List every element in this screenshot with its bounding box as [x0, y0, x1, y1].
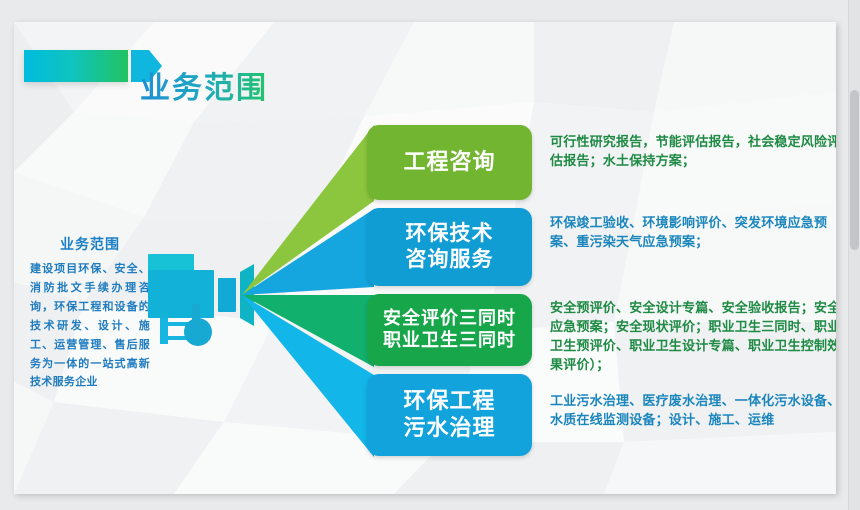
- page-title: 业务范围: [140, 63, 268, 107]
- header-ribbon-bar: [24, 50, 128, 82]
- sidebar-text-block: 业务范围 建设项目环保、安全、消防批文手续办理咨询，环保工程和设备的技术研发、设…: [30, 234, 150, 392]
- screenshot-viewport: 业务范围 业务范围 建设项目环保、安全、消防批文手续办理咨询，环保工程和设备的技…: [0, 0, 860, 510]
- description-item-1: 环保竣工验收、环境影响评价、突发环境应急预案、重污染天气应急预案；: [550, 214, 836, 252]
- banner-item-1[interactable]: 环保技术 咨询服务: [367, 208, 532, 286]
- scrollbar-thumb[interactable]: [850, 90, 859, 250]
- banner-item-0[interactable]: 工程咨询: [367, 125, 532, 200]
- slide-canvas: 业务范围 业务范围 建设项目环保、安全、消防批文手续办理咨询，环保工程和设备的技…: [14, 22, 836, 494]
- sidebar-body-text: 建设项目环保、安全、消防批文手续办理咨询，环保工程和设备的技术研发、设计、施工、…: [30, 260, 150, 392]
- banner-item-2[interactable]: 安全评价三同时 职业卫生三同时: [367, 294, 532, 366]
- description-item-3: 工业污水治理、医疗废水治理、一体化污水设备、水质在线监测设备；设计、施工、运维: [550, 392, 836, 430]
- sidebar-heading: 业务范围: [30, 234, 150, 254]
- banner-item-3[interactable]: 环保工程 污水治理: [367, 374, 532, 456]
- description-item-0: 可行性研究报告，节能评估报告，社会稳定风险评估报告；水土保持方案；: [550, 133, 836, 171]
- scrollbar-track[interactable]: [848, 0, 860, 510]
- description-item-2: 安全预评价、安全设计专篇、安全验收报告；安全应急预案；安全现状评价；职业卫生三同…: [550, 299, 836, 374]
